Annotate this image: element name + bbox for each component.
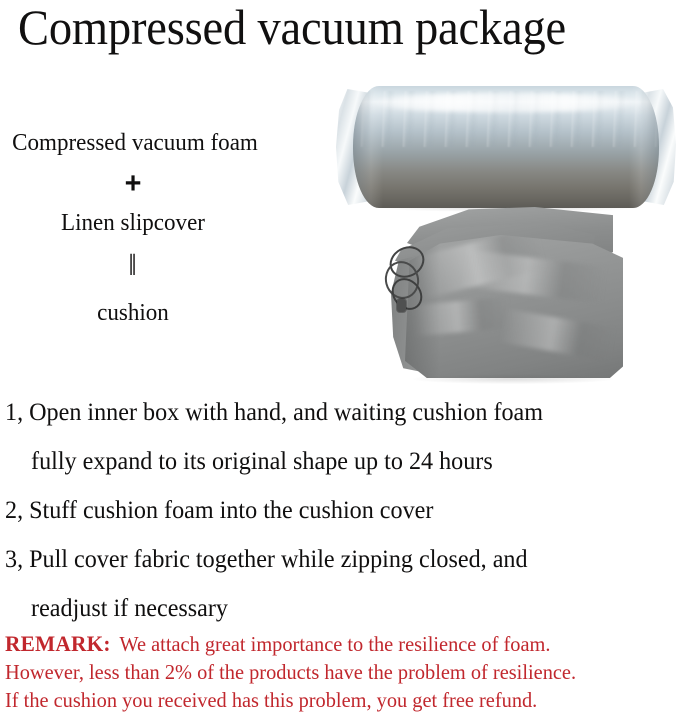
slipcover-fold-ridge xyxy=(460,249,607,303)
instruction-step-2: 2, Stuff cushion foam into the cushion c… xyxy=(5,486,652,535)
equation-term-slipcover: Linen slipcover xyxy=(7,208,259,238)
instruction-list: 1, Open inner box with hand, and waiting… xyxy=(5,388,675,633)
slipcover-fold-ridge xyxy=(499,308,617,361)
page-title: Compressed vacuum package xyxy=(18,0,623,56)
instruction-step-3: 3, Pull cover fabric together while zipp… xyxy=(5,535,652,584)
plus-icon: + xyxy=(7,167,259,201)
roll-body xyxy=(353,86,659,208)
remark-text-3: If the cushion you received has this pro… xyxy=(5,686,657,714)
slipcover-photo xyxy=(383,207,626,379)
zipper-cord xyxy=(383,243,429,319)
product-equation: Compressed vacuum foam + Linen slipcover… xyxy=(2,128,264,328)
remark-block: REMARK:We attach great importance to the… xyxy=(5,630,677,714)
remark-text-2: However, less than 2% of the products ha… xyxy=(5,658,657,686)
equation-result-cushion: cushion xyxy=(7,298,259,328)
infographic-page: Compressed vacuum package Compressed vac… xyxy=(0,0,679,717)
equation-term-foam: Compressed vacuum foam xyxy=(11,128,259,158)
roll-specular-highlight xyxy=(371,93,640,111)
equals-icon: ‖ xyxy=(7,249,259,281)
remark-label: REMARK: xyxy=(5,631,111,656)
slipcover-drop-shadow xyxy=(413,374,613,384)
instruction-step-3-continued: readjust if necessary xyxy=(5,584,652,633)
vacuum-roll-photo xyxy=(336,86,676,208)
remark-first-line: REMARK:We attach great importance to the… xyxy=(5,630,657,658)
instruction-step-1-continued: fully expand to its original shape up to… xyxy=(5,437,652,486)
zipper-pull-tab xyxy=(397,299,406,312)
slipcover-front-panel xyxy=(405,235,623,378)
instruction-step-1: 1, Open inner box with hand, and waiting… xyxy=(5,388,652,437)
remark-text-1: We attach great importance to the resili… xyxy=(119,632,550,656)
